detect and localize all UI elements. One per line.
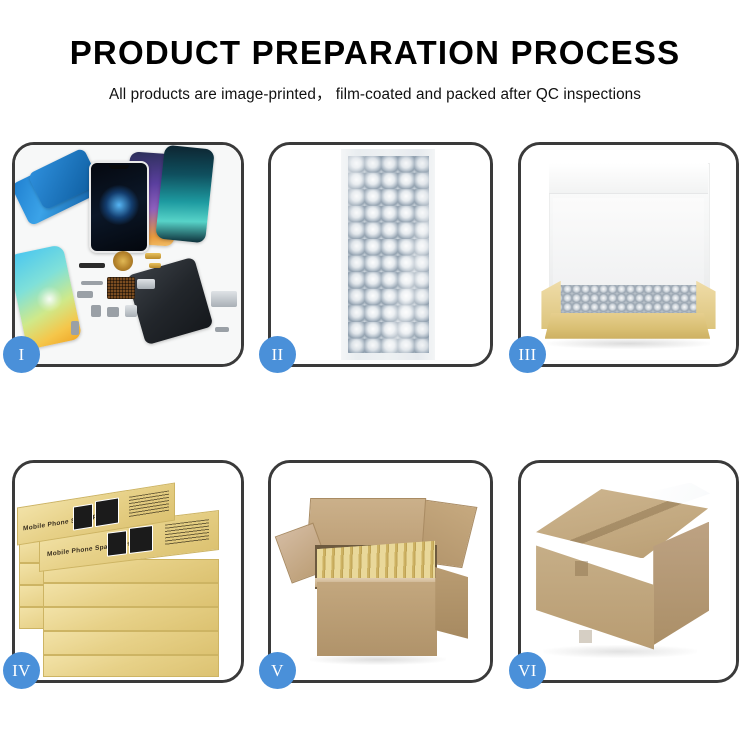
spare-part-bracket [137,279,155,289]
retail-box-stack-item [43,631,219,655]
step-2-image [271,145,490,364]
spare-part-gold-clip-2 [149,263,161,268]
step-4-image: Mobile Phone Spare Parts Mobile Phone Sp… [15,463,241,680]
page-header: PRODUCT PREPARATION PROCESS All products… [0,0,750,104]
spare-part-strip [79,263,105,268]
inner-box-foam [553,198,704,290]
process-step-panel-4[interactable]: Mobile Phone Spare Parts Mobile Phone Sp… [12,460,244,683]
inner-box-bubble-wrapped-items [554,285,702,313]
spare-part-speaker [107,307,119,317]
step-badge-5: V [259,652,296,689]
retail-box-stack-item [43,583,219,607]
retail-box-window-b1 [95,497,119,527]
process-step-panel-5[interactable]: V [268,460,493,683]
spare-part-button [91,305,101,317]
spare-part-gold-clip [145,253,161,259]
bubble-wrap-sheet [341,149,435,359]
phone-teal-green [155,145,215,243]
carton-right-wall [435,567,468,639]
carton-shadow [310,654,446,665]
step-badge-2: II [259,336,296,373]
sealed-carton-tape-tab-top [575,561,588,576]
step-3-image [521,145,736,364]
step-badge-4: IV [3,652,40,689]
retail-box-window-a1 [73,503,93,530]
spare-part-camera [125,305,137,317]
carton-front-wall [317,582,437,656]
sealed-carton-front-wall [536,545,654,649]
page-title: PRODUCT PREPARATION PROCESS [0,36,750,71]
inner-box-lid-flap [549,163,708,195]
spare-part-sim-tray [71,321,79,335]
step-5-image [271,463,490,680]
retail-box-stack-item [43,607,219,631]
spare-part-tool [211,291,237,307]
bubble-wrap-sheen [348,156,429,354]
page-subtitle: All products are image-printed， film-coa… [0,82,750,104]
step-1-image [15,145,241,364]
process-step-panel-6[interactable]: VI [518,460,739,683]
step-badge-6: VI [509,652,546,689]
inner-box-shadow [547,338,710,349]
process-step-grid: I II III [0,140,750,688]
process-step-panel-1[interactable]: I [12,142,244,367]
process-step-panel-3[interactable]: III [518,142,739,367]
sealed-carton-shadow [543,645,698,658]
retail-box-stack-item [43,655,219,677]
sealed-carton-tape-tab-bottom [579,630,592,643]
step-6-image [521,463,736,680]
phone-black-screen [89,161,149,253]
spare-part-coil [113,251,133,271]
step-badge-3: III [509,336,546,373]
spare-part-screwdriver [215,327,229,332]
step-badge-1: I [3,336,40,373]
spare-part-screw-tray [107,277,135,299]
spare-part-flex-cable [81,281,103,285]
spare-part-connector [77,291,93,298]
retail-box-window-b2 [129,525,153,554]
inner-box-front-wall [545,313,711,339]
process-step-panel-2[interactable]: II [268,142,493,367]
retail-box-window-a2 [107,530,127,556]
